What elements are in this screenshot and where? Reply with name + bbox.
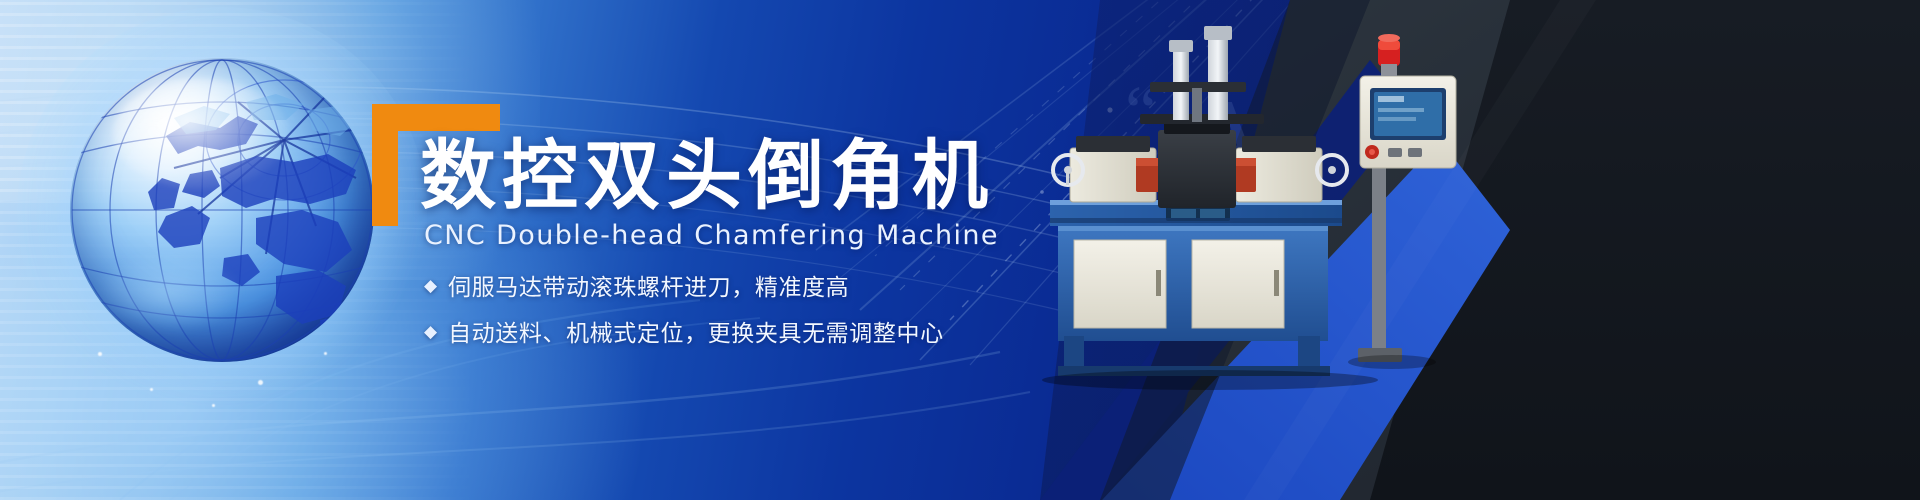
sparkle-dot [212, 404, 215, 407]
sparkle-dot [150, 388, 153, 391]
globe-lower-highlight [94, 253, 240, 332]
globe-sphere [70, 58, 374, 362]
list-item: ◆ 伺服马达带动滚珠螺杆进刀，精准度高 [424, 268, 944, 302]
sparkle-dot [324, 352, 327, 355]
globe-graphic [62, 52, 382, 382]
feature-list: ◆ 伺服马达带动滚珠螺杆进刀，精准度高 ◆ 自动送料、机械式定位，更换夹具无需调… [424, 268, 944, 360]
sparkle-dot [258, 380, 263, 385]
globe-highlight [113, 79, 289, 188]
list-item: ◆ 自动送料、机械式定位，更换夹具无需调整中心 [424, 314, 944, 348]
product-hero-banner: “ A Automatic [0, 0, 1920, 500]
sparkle-dot [98, 352, 102, 356]
feature-text: 伺服马达带动滚珠螺杆进刀，精准度高 [448, 268, 849, 302]
bracket-horizontal-bar [372, 104, 500, 131]
page-subtitle: CNC Double-head Chamfering Machine [424, 220, 999, 251]
page-title: 数控双头倒角机 [420, 138, 994, 214]
diamond-bullet-icon: ◆ [424, 277, 437, 294]
diamond-bullet-icon: ◆ [424, 323, 437, 340]
cnc-machine-photo [1040, 18, 1480, 393]
feature-text: 自动送料、机械式定位，更换夹具无需调整中心 [448, 314, 944, 348]
